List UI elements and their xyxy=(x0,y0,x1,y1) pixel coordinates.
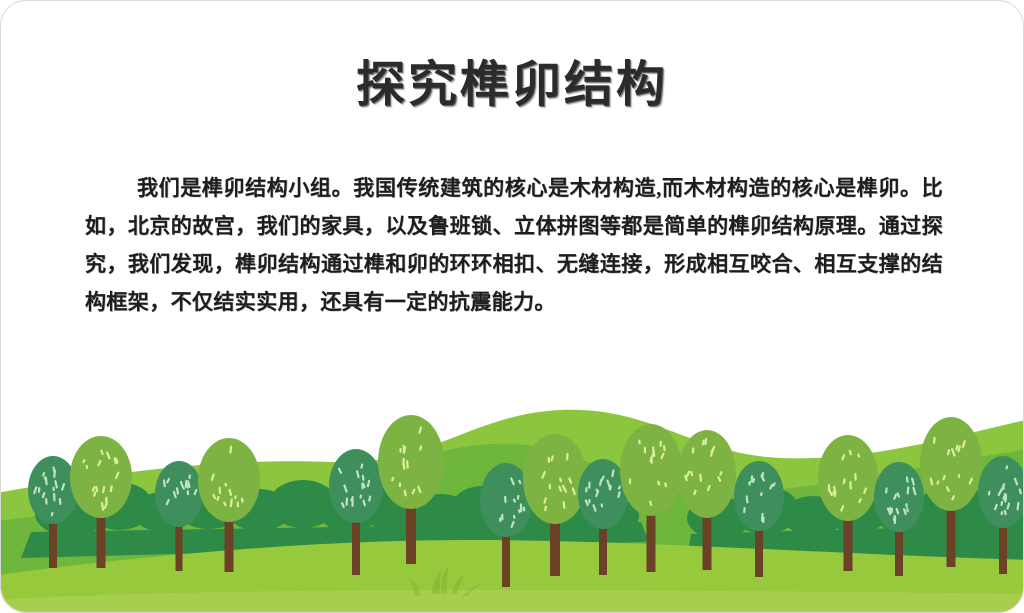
leaf-dash xyxy=(549,484,551,489)
tree-trunk xyxy=(49,518,57,568)
tree-trunk xyxy=(176,521,183,571)
leaf-dash xyxy=(588,481,591,488)
tree-crown xyxy=(198,438,260,522)
page-title: 探究榫卯结构 xyxy=(1,45,1023,116)
leaf-dash xyxy=(849,481,852,490)
tree-trunk xyxy=(225,516,234,572)
tree-trunk xyxy=(406,503,416,564)
tree-crown xyxy=(678,430,736,518)
landscape-illustration xyxy=(1,362,1024,612)
leaf-dash xyxy=(748,481,750,486)
leaf-dash xyxy=(854,473,857,481)
leaf-dash xyxy=(588,499,590,504)
tree-trunk xyxy=(550,518,560,576)
leaf-dash xyxy=(1005,494,1007,501)
leaf-dash xyxy=(828,484,831,491)
leaf-dash xyxy=(652,446,654,450)
tree-trunk xyxy=(352,517,360,575)
leaf-dash xyxy=(743,507,746,513)
poster-canvas: 探究榫卯结构 我们是榫卯结构小组。我国传统建筑的核心是木材构造,而木材构造的核心… xyxy=(0,0,1024,613)
tree-trunk xyxy=(755,525,763,577)
leaf-dash xyxy=(585,487,588,493)
leaf-dash xyxy=(345,497,348,505)
tree-trunk xyxy=(703,512,712,570)
leaf-dash xyxy=(52,487,54,492)
leaf-dash xyxy=(566,453,569,461)
tree-crown xyxy=(818,435,878,521)
tree-trunk xyxy=(647,510,656,572)
leaf-dash xyxy=(520,503,523,512)
tree-crown xyxy=(70,436,132,518)
tree-trunk xyxy=(599,523,607,575)
tree-trunk xyxy=(947,505,956,567)
leaf-dash xyxy=(399,482,401,487)
tree-crown xyxy=(329,449,383,523)
tree-trunk xyxy=(97,512,106,568)
tree-trunk xyxy=(999,522,1007,574)
tree-crown xyxy=(734,461,784,531)
tree-crown xyxy=(920,417,982,511)
leaf-dash xyxy=(501,514,503,521)
leaf-dash xyxy=(660,441,662,447)
tree-crown xyxy=(523,434,587,524)
tree-trunk xyxy=(502,531,510,587)
tree-trunk xyxy=(895,526,903,576)
leaf-dash xyxy=(399,448,401,453)
tree-trunk xyxy=(844,515,853,571)
leaf-dash xyxy=(548,457,551,463)
body-paragraph: 我们是榫卯结构小组。我国传统建筑的核心是木材构造,而木材构造的核心是榫卯。比如，… xyxy=(85,169,943,321)
leaf-dash xyxy=(644,447,647,454)
leaf-dash xyxy=(629,478,631,484)
tree-crown xyxy=(378,415,444,509)
leaf-dash xyxy=(237,501,239,507)
